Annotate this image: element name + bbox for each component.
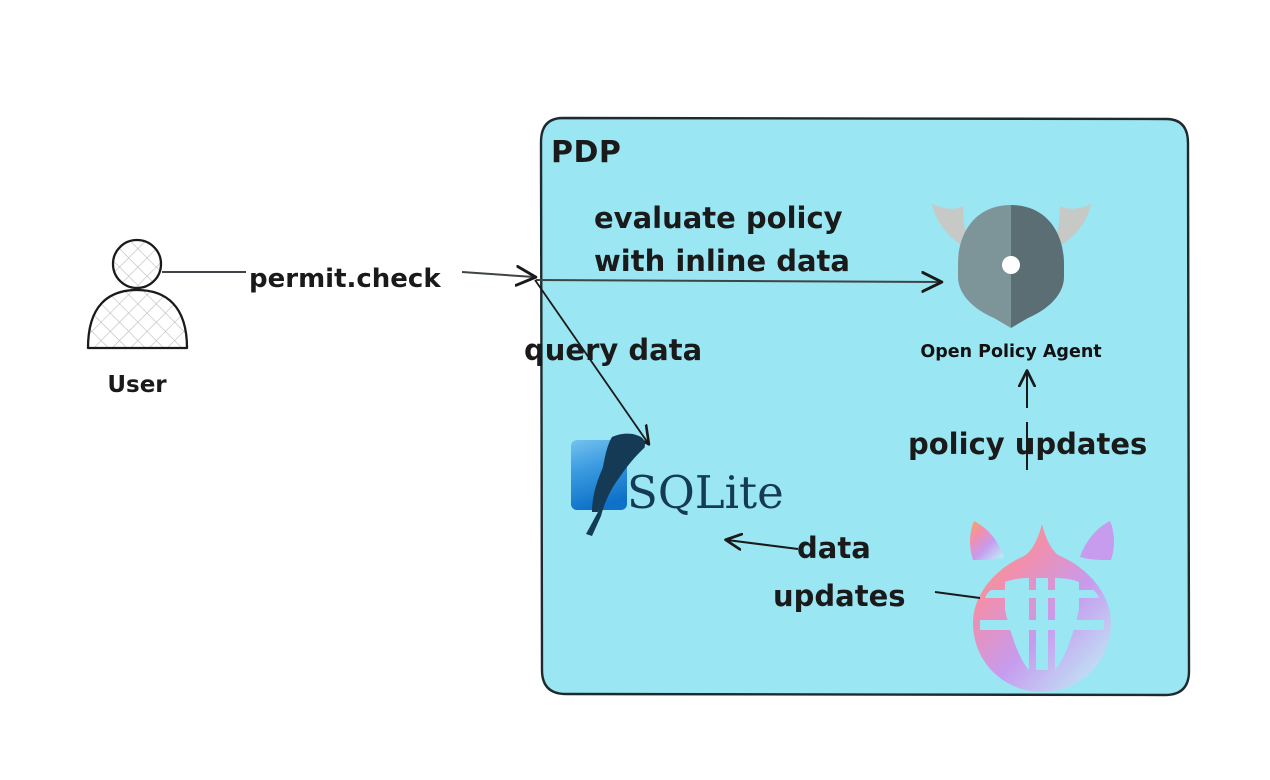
user-actor-label: User — [107, 372, 167, 398]
pdp-container-label: PDP — [551, 135, 621, 170]
edge-evaluate-policy-label-line1: evaluate policy — [594, 201, 843, 235]
edge-query-data-label: query data — [524, 333, 702, 367]
architecture-diagram: PDP User permit.check evaluate policy wi… — [0, 0, 1270, 780]
opal-globe-icon — [970, 521, 1114, 692]
user-actor-icon — [88, 240, 187, 348]
node-opal[interactable] — [970, 521, 1114, 692]
user-actor[interactable]: User — [88, 240, 187, 398]
edge-evaluate-policy-label-line2: with inline data — [594, 244, 850, 278]
edge-data-updates-label-line1: data — [797, 531, 871, 565]
edge-permit-check[interactable]: permit.check — [162, 264, 534, 294]
node-sqlite-label: SQLite — [627, 466, 784, 519]
edge-policy-updates-label: policy updates — [908, 427, 1147, 461]
edge-permit-check-label: permit.check — [249, 264, 441, 294]
edge-data-updates-label-line2: updates — [773, 579, 906, 613]
node-opa-label: Open Policy Agent — [920, 342, 1101, 362]
